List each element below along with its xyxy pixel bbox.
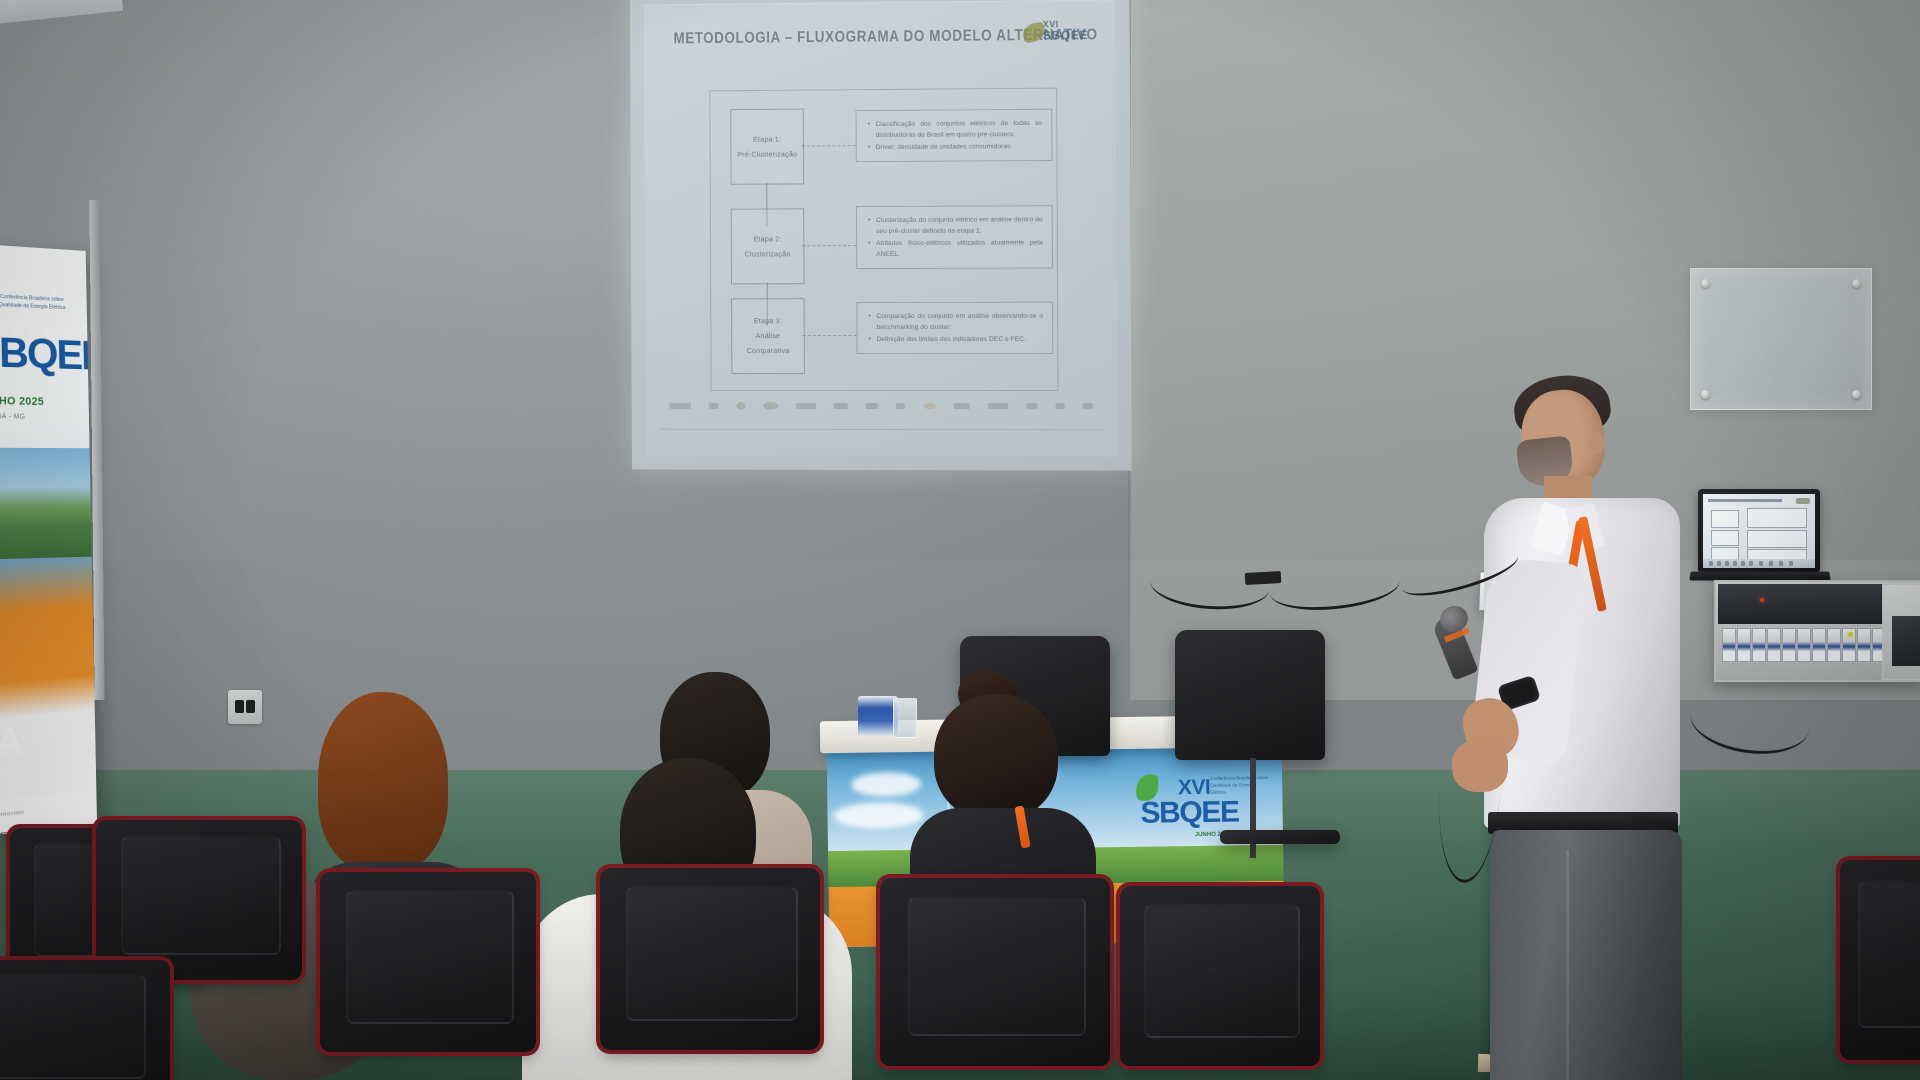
flow-connector-1 [802, 145, 856, 146]
cable-connector-box [1245, 571, 1282, 585]
flow-detail-1-bullet-1: Classificação dos conjuntos elétricos de… [876, 118, 1043, 142]
sign-screw-icon [1701, 390, 1710, 399]
flowchart-container: Etapa 1: Pré-Clusterização Classificação… [709, 88, 1058, 391]
laptop-flow-stage-1 [1711, 510, 1739, 528]
laptop-taskbar[interactable] [1703, 559, 1815, 568]
sign-screw-icon [1701, 279, 1710, 288]
flow-stage-3-box: Etapa 3: Análise Comparativa [731, 298, 805, 374]
presenter-ear [1588, 432, 1605, 454]
flow-stage-3-label-line1: Etapa 3: [754, 317, 782, 325]
outlet-slot-icon [246, 700, 255, 713]
banner-left-photo [0, 448, 97, 560]
auditorium-chair[interactable] [1840, 860, 1920, 1060]
slide-logo-acronym: SBQEE [1043, 28, 1089, 42]
rack-module [1752, 628, 1766, 662]
banner-left-subtitle: Conferência Brasileira sobre Qualidade d… [0, 293, 74, 313]
wall-power-outlet[interactable] [228, 690, 262, 724]
sign-screw-icon [1852, 279, 1861, 288]
flow-detail-2-bullet-2: Atributos físico-elétricos utilizados at… [876, 237, 1043, 260]
sponsor-logo-icon [709, 403, 719, 409]
rack-module [1722, 628, 1736, 662]
drinking-glass[interactable] [893, 698, 917, 738]
rack-module [1737, 628, 1751, 662]
flow-stage-3-label-line3: Comparativa [747, 347, 790, 355]
slide-content-area: METODOLOGIA – FLUXOGRAMA DO MODELO ALTER… [644, 0, 1118, 457]
office-chair-back[interactable] [1175, 630, 1325, 760]
rollup-banner-left: Conferência Brasileira sobre Qualidade d… [0, 244, 97, 835]
banner-left-location: ITAJUBÁ - MG [0, 413, 25, 421]
flow-detail-1-bullet-2: Driver: densidade de unidades consumidor… [876, 141, 1043, 153]
table-banner-acronym: SBQEE [1140, 795, 1238, 830]
flow-detail-3-bullet-2: Definição dos limites dos indicadores DE… [876, 333, 1043, 345]
sponsor-logo-icon [669, 403, 691, 409]
rack-upper-bay [1718, 584, 1896, 624]
presenter-trousers [1490, 830, 1682, 1080]
banner-left-date: JUNHO 2025 [0, 395, 44, 408]
flow-connector-2 [802, 245, 856, 246]
sponsor-logo-icon [796, 403, 816, 409]
flow-detail-1-box: Classificação dos conjuntos elétricos de… [856, 109, 1053, 162]
sponsor-logo-icon [1083, 403, 1093, 409]
presenter [1470, 380, 1690, 1080]
flow-detail-3-bullet-1: Comparação do conjunto em análise observ… [876, 311, 1043, 334]
flow-stage-1-box: Etapa 1: Pré-Clusterização [730, 109, 804, 185]
slide-footer-rule [659, 429, 1103, 431]
rack-side-unit-display [1892, 616, 1920, 666]
office-chair-base [1220, 830, 1340, 844]
flow-connector-3 [803, 335, 857, 336]
flow-stage-2-box: Etapa 2: Clusterização [731, 208, 805, 284]
auditorium-chair[interactable] [1120, 886, 1320, 1066]
presenter-trouser-crease [1566, 850, 1569, 1080]
auditorium-chair[interactable] [320, 872, 536, 1052]
auditorium-chair[interactable] [96, 820, 302, 980]
sponsor-logo-icon [1055, 403, 1064, 409]
outlet-slot-icon [235, 700, 244, 713]
sponsor-logo-icon [866, 403, 878, 409]
flow-stage-2-label-line1: Etapa 2: [753, 235, 781, 243]
sign-screw-icon [1852, 390, 1861, 399]
flow-stage-2-label-line2: Clusterização [745, 250, 791, 258]
laptop-slide-logo-icon [1796, 498, 1810, 504]
sponsor-logo-icon [763, 402, 778, 410]
acrylic-wall-sign [1690, 268, 1872, 410]
banner-left-big-letter: A [0, 719, 24, 767]
laptop-detail-1 [1747, 508, 1807, 528]
rack-module [1812, 628, 1826, 662]
laptop-detail-2 [1747, 530, 1807, 548]
flow-detail-2-box: Clusterização do conjunto elétrico em an… [856, 205, 1053, 269]
rack-power-led-icon [1760, 598, 1764, 602]
rack-module [1797, 628, 1811, 662]
flow-detail-2-bullet-1: Clusterização do conjunto elétrico em an… [876, 214, 1043, 237]
rack-module [1857, 628, 1871, 662]
laptop-screen [1703, 494, 1815, 568]
rack-module [1767, 628, 1781, 662]
sponsor-logo-icon [834, 403, 848, 409]
slide-logo: XVI SBQEE [1023, 17, 1090, 48]
auditorium-chair[interactable] [880, 878, 1110, 1066]
slide-sponsor-logo-row [669, 396, 1093, 416]
sponsor-logo-icon [923, 403, 935, 409]
laptop[interactable] [1698, 489, 1820, 573]
laptop-flow-stage-2 [1711, 530, 1739, 546]
sponsor-logo-icon [737, 402, 746, 410]
auditorium-chair[interactable] [600, 868, 820, 1050]
rack-module [1827, 628, 1841, 662]
sponsor-logo-icon [988, 403, 1008, 409]
laptop-slide-title-bar [1708, 499, 1782, 502]
flow-detail-3-box: Comparação do conjunto em análise observ… [856, 302, 1053, 354]
sponsor-logo-icon [953, 403, 969, 409]
table-banner-subtitle: Conferência Brasileira sobre Qualidade d… [1210, 775, 1268, 796]
sponsor-logo-icon [896, 403, 905, 409]
flow-stage-1-label-line2: Pré-Clusterização [737, 150, 797, 158]
flow-stage-1-label-line1: Etapa 1: [753, 135, 781, 143]
presentation-scene: METODOLOGIA – FLUXOGRAMA DO MODELO ALTER… [0, 0, 1920, 1080]
projected-slide: METODOLOGIA – FLUXOGRAMA DO MODELO ALTER… [630, 0, 1132, 471]
auditorium-chair[interactable] [0, 960, 170, 1080]
sponsor-logo-icon [1026, 403, 1037, 409]
rack-module [1782, 628, 1796, 662]
rack-status-led-icon [1848, 632, 1853, 637]
flow-stage-3-label-line2: Análise [756, 332, 781, 340]
banner-left-acronym: SBQEE [0, 327, 97, 379]
